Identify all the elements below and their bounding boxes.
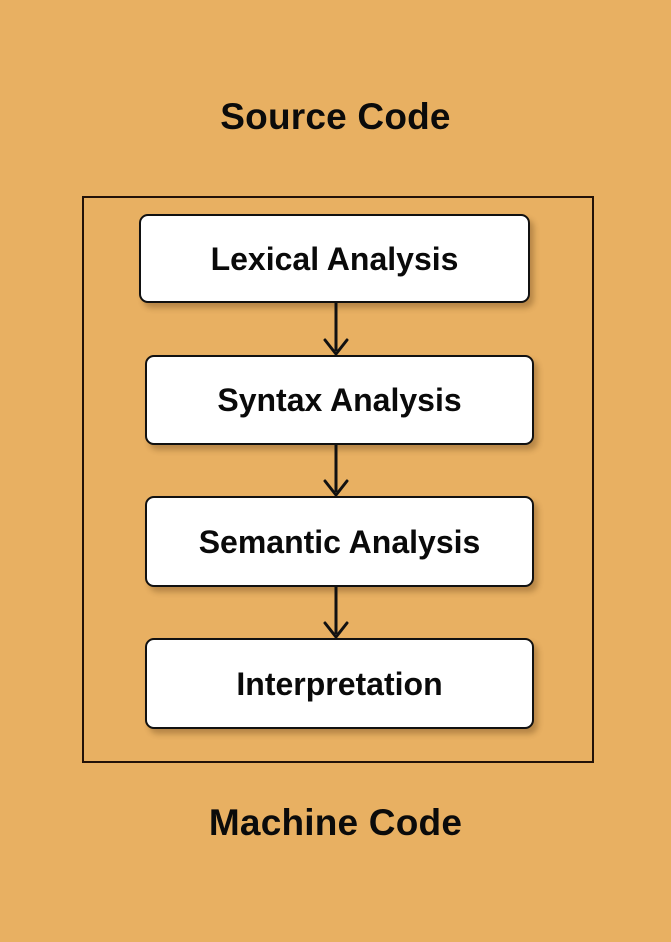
stage-box-semantic-analysis[interactable]: Semantic Analysis [145, 496, 534, 587]
diagram-canvas: Source Code Lexical Analysis Syntax Anal… [0, 0, 671, 942]
stage-label: Semantic Analysis [199, 526, 481, 558]
arrow-down-icon [316, 303, 356, 356]
arrow-down-icon [316, 587, 356, 639]
stage-label: Interpretation [236, 668, 442, 700]
machine-code-label: Machine Code [0, 802, 671, 844]
stage-box-syntax-analysis[interactable]: Syntax Analysis [145, 355, 534, 445]
stage-box-interpretation[interactable]: Interpretation [145, 638, 534, 729]
stage-box-lexical-analysis[interactable]: Lexical Analysis [139, 214, 530, 303]
stage-label: Lexical Analysis [211, 243, 459, 275]
arrow-down-icon [316, 445, 356, 497]
source-code-label: Source Code [0, 96, 671, 138]
stage-label: Syntax Analysis [217, 384, 461, 416]
